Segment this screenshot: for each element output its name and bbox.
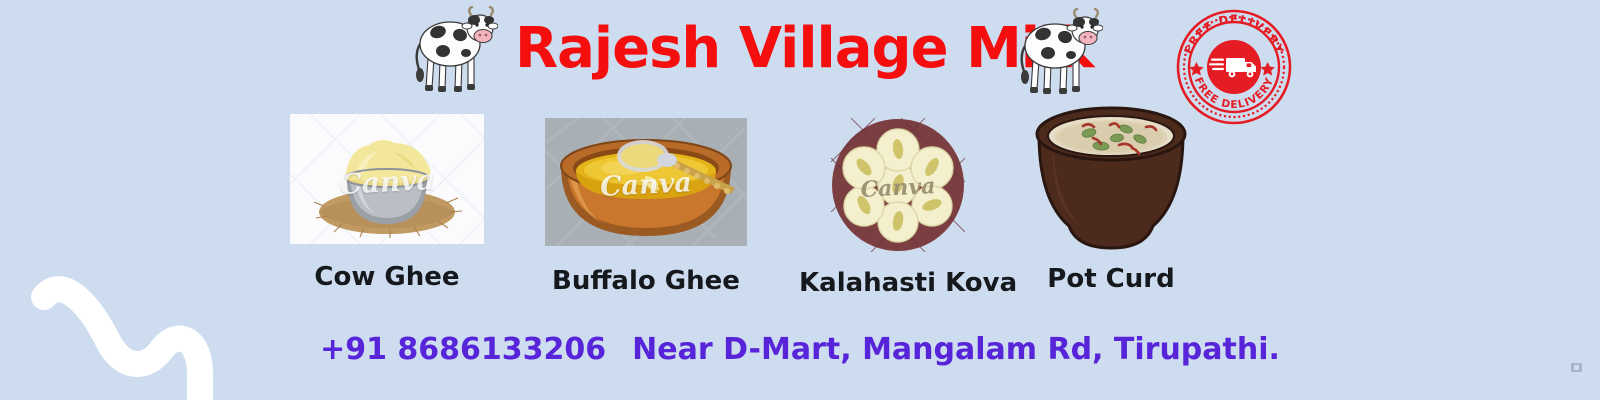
cow-icon [1003,8,1103,100]
product-card-cow-ghee[interactable]: Canva Cow Ghee [290,114,484,294]
product-image-kalahasti-kova: Canva [831,118,965,252]
product-image-pot-curd [1031,104,1191,256]
product-card-buffalo-ghee[interactable]: Canva Buffalo Ghee [545,118,747,298]
product-label: Buffalo Ghee [545,266,747,296]
page-title: Rajesh Village Milk [515,12,995,86]
product-list: Canva Cow Ghee [0,104,1600,304]
promo-banner: Rajesh Village Milk [0,0,1600,400]
product-card-pot-curd[interactable]: Pot Curd [1031,104,1191,294]
cow-icon [398,6,498,98]
banner-header: Rajesh Village Milk [0,0,1600,108]
product-image-cow-ghee: Canva [290,114,484,244]
product-image-buffalo-ghee: Canva [545,118,747,246]
product-card-kalahasti-kova[interactable]: Canva Kalahasti Kova [831,118,965,298]
phone-number[interactable]: +91 8686133206 [320,332,606,367]
watermark-mark-icon [1571,363,1582,372]
product-label: Kalahasti Kova [799,268,997,298]
address-text: Near D-Mart, Mangalam Rd, Tirupathi. [632,332,1280,367]
product-label: Cow Ghee [290,262,484,292]
product-label: Pot Curd [1026,264,1196,294]
contact-line[interactable]: +91 8686133206Near D-Mart, Mangalam Rd, … [0,332,1600,367]
